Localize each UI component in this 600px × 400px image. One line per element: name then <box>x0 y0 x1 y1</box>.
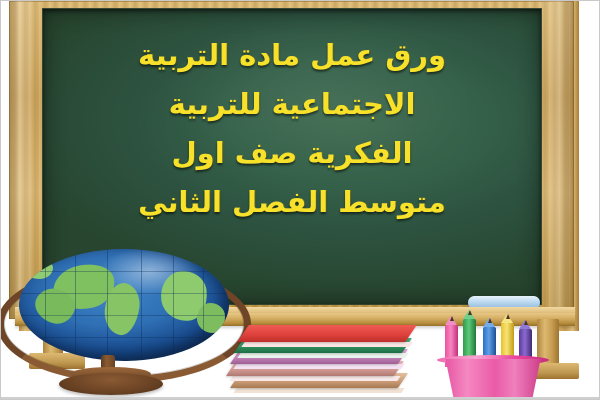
book-pages-edge <box>233 388 404 393</box>
book-pages-edge <box>233 364 404 369</box>
globe-base <box>59 373 163 395</box>
globe-sphere <box>19 249 229 361</box>
board-line-1: ورق عمل مادة التربية <box>138 31 446 80</box>
book-stack <box>229 321 439 399</box>
globe-graticule <box>19 249 229 361</box>
book-pages-edge <box>237 353 408 358</box>
floor-line <box>1 397 600 399</box>
board-line-3: الفكرية صف اول <box>172 129 413 178</box>
board-line-2: الاجتماعية للتربية <box>169 80 416 129</box>
book-pages-edge <box>229 376 400 381</box>
pencil-cup-body <box>439 359 547 400</box>
pencil-cup <box>439 319 559 400</box>
book-pages-edge <box>241 342 412 347</box>
poster-canvas: ورق عمل مادة التربية الاجتماعية للتربية … <box>0 0 600 400</box>
board-line-4: متوسط الفصل الثاني <box>138 178 446 227</box>
book-top-red <box>237 325 416 342</box>
